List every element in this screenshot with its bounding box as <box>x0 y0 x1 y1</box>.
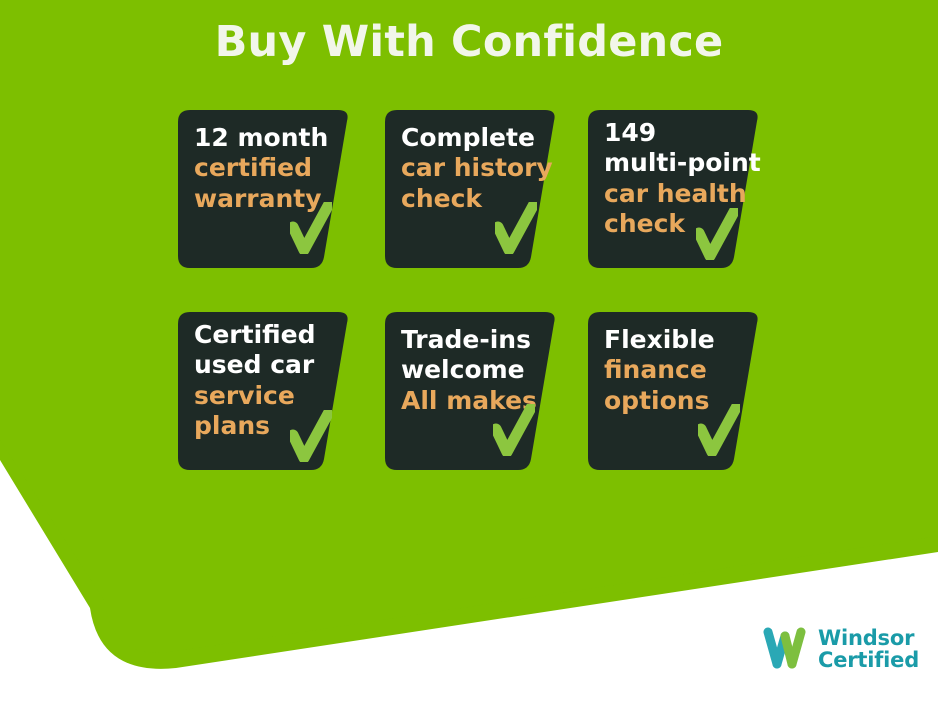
card-line: car health <box>604 179 750 209</box>
card-line: 12 month <box>194 123 340 153</box>
check-icon <box>290 410 332 462</box>
brand-logo-text: Windsor Certified <box>818 627 919 672</box>
windsor-w-icon <box>763 626 809 672</box>
card-line: multi-point <box>604 148 750 178</box>
benefit-card-5[interactable]: Trade-ins welcome All makes <box>385 312 557 470</box>
card-line: used car <box>194 350 340 380</box>
card-line: 149 <box>604 118 750 148</box>
benefit-card-2[interactable]: Complete car history check <box>385 110 557 268</box>
card-text-block: Flexible finance options <box>604 325 750 416</box>
benefit-card-1[interactable]: 12 month certified warranty <box>178 110 350 268</box>
check-icon <box>698 404 740 456</box>
brand-logo[interactable]: Windsor Certified <box>763 626 919 672</box>
card-line: car history <box>401 153 547 183</box>
card-line: finance <box>604 355 750 385</box>
card-text-block: Complete car history check <box>401 123 547 214</box>
benefit-card-6[interactable]: Flexible finance options <box>588 312 760 470</box>
card-line: Certified <box>194 320 340 350</box>
benefits-grid: 12 month certified warranty Complete car… <box>0 0 938 704</box>
check-icon <box>493 404 535 456</box>
brand-name-line1: Windsor <box>818 627 919 649</box>
card-line: Trade-ins <box>401 325 547 355</box>
poster-canvas: Buy With Confidence 12 month certified w… <box>0 0 938 704</box>
card-line: Complete <box>401 123 547 153</box>
check-icon <box>696 208 738 260</box>
card-text-block: 12 month certified warranty <box>194 123 340 214</box>
card-line: service <box>194 381 340 411</box>
card-line: Flexible <box>604 325 750 355</box>
brand-name-line2: Certified <box>818 649 919 671</box>
check-icon <box>290 202 332 254</box>
card-line: welcome <box>401 355 547 385</box>
benefit-card-3[interactable]: 149 multi-point car health check <box>588 110 760 268</box>
benefit-card-4[interactable]: Certified used car service plans <box>178 312 350 470</box>
card-text-block: Trade-ins welcome All makes <box>401 325 547 416</box>
card-line: certified <box>194 153 340 183</box>
check-icon <box>495 202 537 254</box>
